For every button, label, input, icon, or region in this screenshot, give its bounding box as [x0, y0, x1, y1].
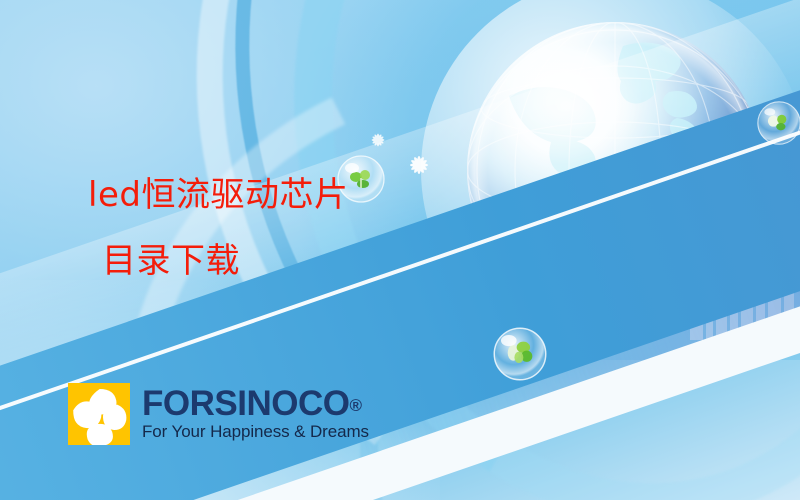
- daisy-flower-small-icon: [366, 128, 390, 152]
- diagonal-gray-band: [293, 404, 800, 500]
- logo-text-block: FORSINOCO® For Your Happiness & Dreams: [142, 386, 369, 442]
- logo-wordmark-text: FORSINOCO: [142, 384, 349, 423]
- bubble-with-leaf-lower-icon: [492, 326, 548, 382]
- registered-trademark-icon: ®: [349, 396, 361, 415]
- logo-mark: [68, 383, 130, 445]
- headline-line-1: led恒流驱动芯片: [88, 162, 348, 228]
- headline-line-2: 目录下载: [88, 228, 348, 294]
- daisy-flower-icon: [402, 148, 436, 182]
- four-petal-flower-icon: [68, 383, 130, 445]
- globe-graphic: [455, 10, 775, 330]
- logo-tagline: For Your Happiness & Dreams: [142, 422, 369, 442]
- headline: led恒流驱动芯片 目录下载: [88, 162, 348, 294]
- brand-logo: FORSINOCO® For Your Happiness & Dreams: [68, 383, 369, 445]
- promo-banner: led恒流驱动芯片 目录下载 FORSINOCO® For Your Happi…: [0, 0, 800, 500]
- bubble-with-leaf-corner-icon: [756, 100, 800, 146]
- logo-wordmark: FORSINOCO®: [142, 386, 369, 422]
